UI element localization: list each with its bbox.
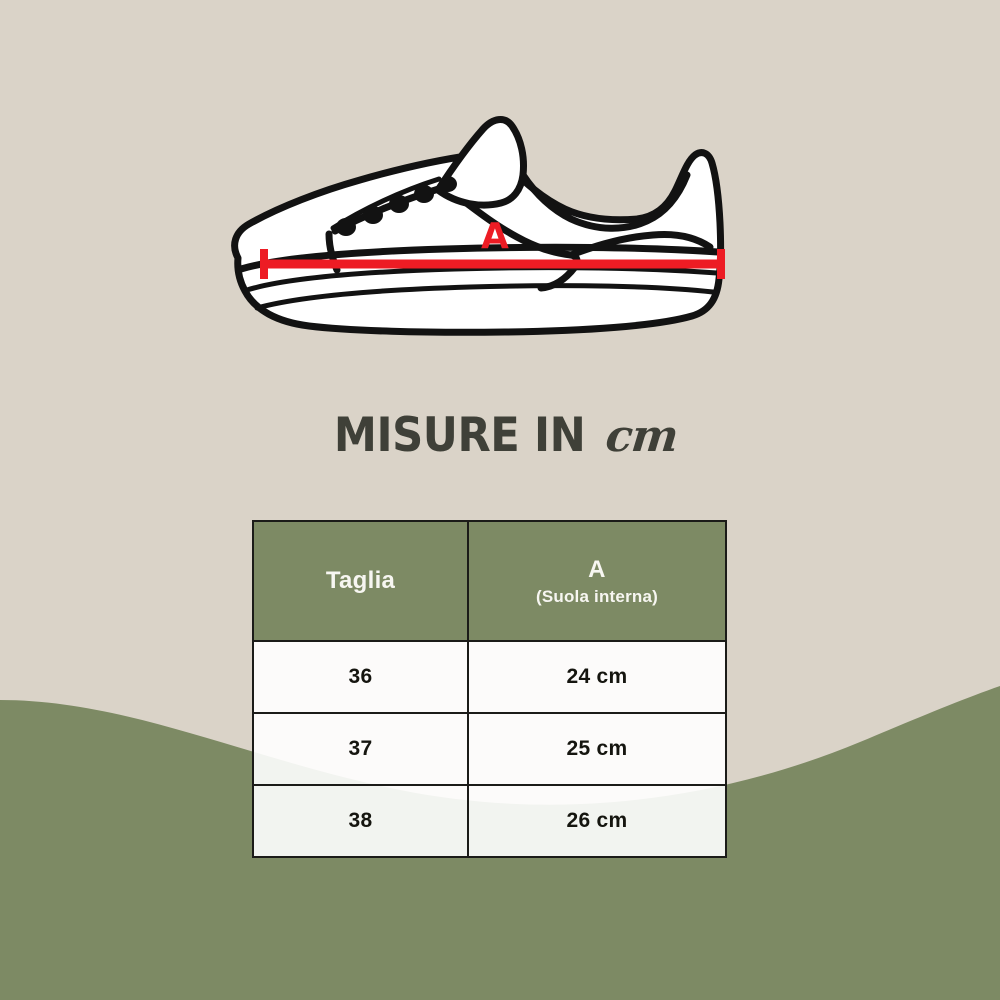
cell-measure: 25 cm (468, 713, 726, 785)
page-title-unit: cm (603, 411, 680, 462)
table-row: 38 26 cm (253, 785, 726, 857)
size-chart-table-head: Taglia A (Suola interna) (253, 521, 726, 641)
cell-measure: 24 cm (468, 641, 726, 713)
table-header-row: Taglia A (Suola interna) (253, 521, 726, 641)
measure-label-a: A (481, 219, 509, 255)
table-header-measure-label: A (475, 555, 719, 585)
table-header-size-label: Taglia (260, 566, 461, 596)
table-row: 36 24 cm (253, 641, 726, 713)
table-header-measure: A (Suola interna) (468, 521, 726, 641)
table-header-size: Taglia (253, 521, 468, 641)
cell-size: 38 (253, 785, 468, 857)
lace-eyelet-1 (336, 218, 356, 236)
lace-eyelet-5 (439, 176, 457, 192)
lace-eyelet-3 (389, 195, 409, 213)
table-row: 37 25 cm (253, 713, 726, 785)
size-chart-table-body: 36 24 cm 37 25 cm 38 26 cm (253, 641, 726, 857)
cell-size: 36 (253, 641, 468, 713)
page-title: MISURE INcm (0, 408, 1000, 463)
lace-eyelet-2 (363, 206, 383, 224)
cell-measure: 26 cm (468, 785, 726, 857)
cell-size: 37 (253, 713, 468, 785)
page-title-main: MISURE IN (334, 408, 585, 463)
lace-eyelet-4 (414, 185, 434, 203)
size-chart-table: Taglia A (Suola interna) 36 24 cm 37 25 … (252, 520, 727, 858)
size-chart-canvas: A MISURE INcm Taglia A (Suola interna) 3… (0, 0, 1000, 1000)
table-header-measure-sublabel: (Suola interna) (475, 587, 719, 607)
